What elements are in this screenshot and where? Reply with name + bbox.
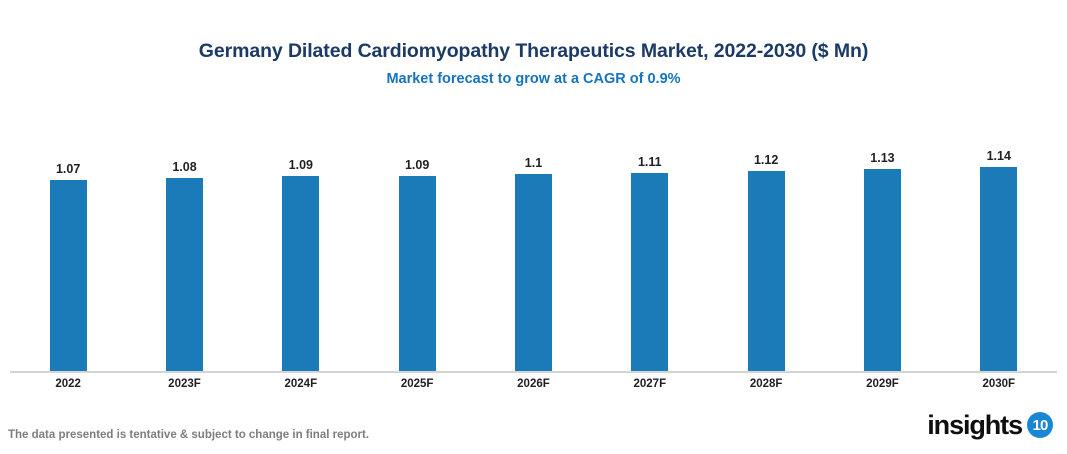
bar-slot: 1.09 <box>243 140 359 372</box>
bar-value-label: 1.1 <box>475 156 591 170</box>
bar-value-label: 1.09 <box>243 158 359 172</box>
bar <box>166 178 203 372</box>
disclaimer-note: The data presented is tentative & subjec… <box>8 427 369 443</box>
plot-area: 1.071.081.091.091.11.111.121.131.14 <box>10 140 1057 373</box>
x-axis-label: 2023F <box>126 376 242 394</box>
bar <box>631 173 668 372</box>
chart-figure: Germany Dilated Cardiomyopathy Therapeut… <box>0 0 1067 454</box>
bar <box>864 169 901 372</box>
x-axis-label: 2022 <box>10 376 126 394</box>
bar-slot: 1.13 <box>824 140 940 372</box>
x-axis-label: 2026F <box>475 376 591 394</box>
bar-slot: 1.09 <box>359 140 475 372</box>
bar-value-label: 1.09 <box>359 158 475 172</box>
bar <box>748 171 785 372</box>
bar-value-label: 1.07 <box>10 162 126 176</box>
bar <box>399 176 436 372</box>
bar-slot: 1.14 <box>941 140 1057 372</box>
bar-value-label: 1.13 <box>824 151 940 165</box>
chart-header: Germany Dilated Cardiomyopathy Therapeut… <box>0 38 1067 89</box>
x-axis-label: 2025F <box>359 376 475 394</box>
x-axis-label: 2030F <box>941 376 1057 394</box>
chart-subtitle: Market forecast to grow at a CAGR of 0.9… <box>0 69 1067 89</box>
bar-slot: 1.11 <box>592 140 708 372</box>
insights10-logo: insights 10 <box>927 408 1053 442</box>
bar-slot: 1.12 <box>708 140 824 372</box>
x-axis-label: 2028F <box>708 376 824 394</box>
bar <box>515 174 552 372</box>
bar-value-label: 1.11 <box>592 155 708 169</box>
x-axis-label: 2027F <box>592 376 708 394</box>
x-axis-line <box>10 371 1057 373</box>
bar-value-label: 1.12 <box>708 153 824 167</box>
x-axis-label: 2029F <box>824 376 940 394</box>
bar-value-label: 1.14 <box>941 149 1057 163</box>
bar-slot: 1.1 <box>475 140 591 372</box>
chart-title: Germany Dilated Cardiomyopathy Therapeut… <box>0 38 1067 64</box>
brand-wordmark: insights <box>927 410 1022 440</box>
bar-series: 1.071.081.091.091.11.111.121.131.14 <box>10 140 1057 372</box>
bar <box>50 180 87 372</box>
brand-badge-icon: 10 <box>1027 412 1053 438</box>
bar-slot: 1.08 <box>126 140 242 372</box>
bar-slot: 1.07 <box>10 140 126 372</box>
x-axis-category-labels: 20222023F2024F2025F2026F2027F2028F2029F2… <box>10 376 1057 394</box>
bar <box>282 176 319 372</box>
bar-value-label: 1.08 <box>126 160 242 174</box>
x-axis-label: 2024F <box>243 376 359 394</box>
bar <box>980 167 1017 372</box>
